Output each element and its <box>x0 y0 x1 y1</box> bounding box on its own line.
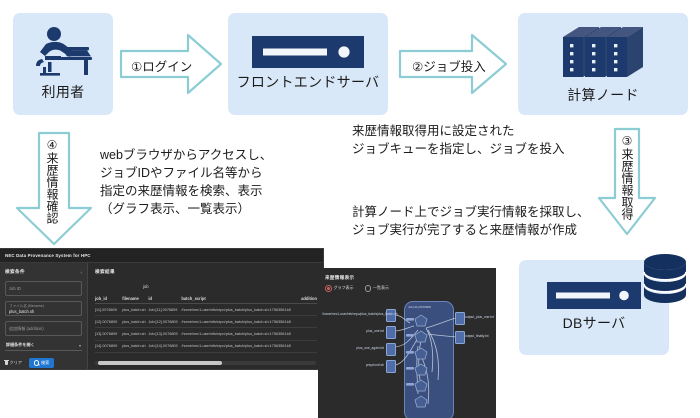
col-job-id[interactable]: job_id <box>95 293 122 304</box>
search-panel-header: 検索条件 ‹ <box>5 269 82 275</box>
graph-input-label: plus_one.txt <box>322 329 384 333</box>
node-compute: 計算ノード <box>518 13 688 115</box>
graph-output-label: output_plus_one.txt <box>465 315 494 319</box>
table-row[interactable]: [11].0076809 plus_batch.sh Job:[11].0076… <box>95 304 317 316</box>
clear-button[interactable]: クリア <box>5 360 22 366</box>
server-icon <box>547 282 641 309</box>
cell-id: Job:[14].0076809 <box>148 340 181 352</box>
arrow-login-label: ①ログイン <box>131 56 192 75</box>
col-filename[interactable]: filename <box>122 293 148 304</box>
app-window-search: NEC Data Provenance System for HPC 検索条件 … <box>0 249 323 369</box>
cell-addition <box>301 304 317 316</box>
cell-id: Job:[13].0076809 <box>148 328 181 340</box>
addition-placeholder: 追加情報 (addition) <box>9 326 44 332</box>
cell-id: Job:[12].0076809 <box>148 316 181 328</box>
collapse-icon[interactable]: ‹ <box>81 270 83 275</box>
job-id-placeholder: Job ID <box>9 286 21 291</box>
graph-edges <box>318 268 496 418</box>
cell-batch-script: /home/nec1-user/nfs/repo/plus_batch/plus… <box>181 316 301 328</box>
search-panel-title: 検索条件 <box>5 269 25 275</box>
node-user-label: 利用者 <box>42 82 85 102</box>
cell-id: Job:[11].0076809 <box>148 304 181 316</box>
cell-filename: plus_batch.sh <box>122 340 148 352</box>
graph-input-label: prep/conf.sh <box>322 363 384 367</box>
search-button-label: 検索 <box>41 360 49 366</box>
cell-addition <box>301 328 317 340</box>
person-at-desk-icon <box>32 26 94 78</box>
compute-rack-icon <box>559 23 647 81</box>
detail-condition-value: 詳細条件を開く <box>6 342 35 348</box>
search-icon <box>34 360 39 365</box>
result-table: job_id filename id batch_script addition… <box>95 293 317 353</box>
clear-button-label: クリア <box>10 360 23 366</box>
note-browser: webブラウザからアクセスし、 ジョブIDやファイル名等から 指定の来歴情報を検… <box>100 146 272 219</box>
search-actions: クリア 検索 <box>5 358 82 368</box>
cell-batch-script: /home/nec1-user/nfs/repo/plus_batch/plus… <box>181 304 301 316</box>
cell-job-id: [13].0076809 <box>95 328 122 340</box>
cell-batch-script: /home/nec1-user/nfs/repo/plus_batch/plus… <box>181 328 301 340</box>
cell-addition <box>301 316 317 328</box>
graph-file-node[interactable] <box>455 331 465 344</box>
cell-batch-script: /home/nec1-user/nfs/repo/plus_batch/plus… <box>181 340 301 352</box>
graph-input-label: plus_one_again.txt <box>322 346 384 350</box>
database-cylinder-icon <box>641 253 689 305</box>
diagram-canvas: 利用者 ①ログイン フロントエンドサーバ ②ジョブ投入 <box>0 0 700 418</box>
node-db-label: DBサーバ <box>563 313 626 333</box>
search-button[interactable]: 検索 <box>29 358 54 368</box>
graph-file-node[interactable] <box>455 312 465 325</box>
cell-job-id: [14].0076809 <box>95 340 122 352</box>
arrow-provenance-acquire-label: ③来歴情報取得 <box>621 134 633 220</box>
graph-file-node[interactable] <box>386 360 396 373</box>
col-addition[interactable]: addition <box>301 293 317 304</box>
graph-input-label: /home/nec1-user/nfs/repo/plus_batch/plus… <box>322 312 384 316</box>
node-frontend-label: フロントエンドサーバ <box>237 72 380 92</box>
col-batch-script[interactable]: batch_script <box>181 293 301 304</box>
arrow-job-submit-label: ②ジョブ投入 <box>412 56 486 75</box>
chevron-down-icon: ▾ <box>79 343 81 348</box>
note-collect: 計算ノード上でジョブ実行情報を採取し、 ジョブ実行が完了すると来歴情報が作成 <box>352 203 590 239</box>
cell-job-id: [12].0076809 <box>95 316 122 328</box>
cell-job-id: [11].0076809 <box>95 304 122 316</box>
node-frontend: フロントエンドサーバ <box>228 13 388 115</box>
note-queue: 来歴情報取得用に設定された ジョブキューを指定し、ジョブを投入 <box>352 122 565 158</box>
job-id-field[interactable]: Job ID <box>5 281 82 296</box>
table-row[interactable]: [13].0076809 plus_batch.sh Job:[13].0076… <box>95 328 317 340</box>
table-row[interactable]: [14].0076809 plus_batch.sh Job:[14].0076… <box>95 340 317 352</box>
node-user: 利用者 <box>13 13 113 115</box>
cell-filename: plus_batch.sh <box>122 304 148 316</box>
cell-filename: plus_batch.sh <box>122 328 148 340</box>
cell-addition <box>301 340 317 352</box>
app-window-graph: 来歴情報表示 グラフ表示 一覧表示 Job:[11].0076809 <box>318 268 496 418</box>
trash-icon <box>5 361 8 365</box>
cell-filename: plus_batch.sh <box>122 316 148 328</box>
app-body: 検索条件 ‹ Job ID ファイル名 (filename) plus_batc… <box>0 263 323 369</box>
addition-field[interactable]: 追加情報 (addition) <box>5 321 82 336</box>
table-header-row: job_id filename id batch_script addition <box>95 293 317 304</box>
server-icon <box>252 36 364 68</box>
search-condition-panel: 検索条件 ‹ Job ID ファイル名 (filename) plus_batc… <box>0 263 88 369</box>
detail-condition-select[interactable]: 詳細条件を開く ▾ <box>5 341 82 351</box>
graph-output-label: output_finally.txt <box>465 334 489 338</box>
app-titlebar: NEC Data Provenance System for HPC <box>0 249 323 263</box>
search-result-panel: 検索結果 job job_id filename id batch_script… <box>88 263 323 369</box>
app-title: NEC Data Provenance System for HPC <box>5 253 91 258</box>
result-title: 検索結果 <box>95 269 317 275</box>
scrollbar-thumb[interactable] <box>98 361 222 365</box>
result-subheading: job <box>143 284 317 289</box>
table-row[interactable]: [12].0076809 plus_batch.sh Job:[12].0076… <box>95 316 317 328</box>
graph-file-node[interactable] <box>386 343 396 356</box>
arrow-provenance-check-label: ④来歴情報確認 <box>46 138 58 224</box>
graph-file-node[interactable] <box>386 326 396 339</box>
node-compute-label: 計算ノード <box>567 85 639 105</box>
filename-field[interactable]: ファイル名 (filename) plus_batch.sh <box>5 301 82 316</box>
col-id[interactable]: id <box>148 293 181 304</box>
horizontal-scrollbar[interactable] <box>95 361 316 365</box>
filename-value: plus_batch.sh <box>9 309 34 314</box>
